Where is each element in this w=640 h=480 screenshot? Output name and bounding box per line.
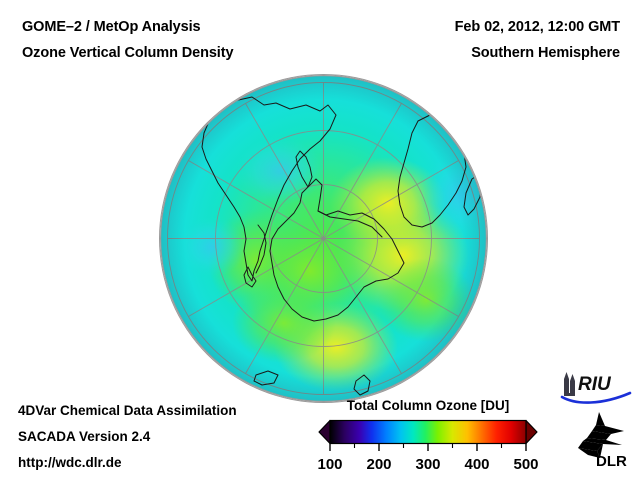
header-timestamp: Feb 02, 2012, 12:00 GMT: [455, 19, 620, 35]
south-pole-marker: [322, 237, 325, 240]
colorbar-under-arrow: [319, 421, 330, 444]
riu-logo-mark: RIU: [558, 370, 634, 406]
colorbar-tick-label: 300: [415, 456, 440, 473]
colorbar-tick-label: 200: [366, 456, 391, 473]
colorbar-title: Total Column Ozone [DU]: [312, 398, 544, 413]
riu-logo: RIU: [558, 370, 634, 406]
ozone-field-plot: [160, 75, 487, 402]
colorbar-tick-label: 400: [464, 456, 489, 473]
riu-tower-icon: [564, 372, 575, 396]
colorbar-tick-label: 500: [513, 456, 538, 473]
footer-version: SACADA Version 2.4: [18, 429, 150, 444]
dlr-logo-mark: DLR: [566, 410, 634, 468]
header-title-secondary: Ozone Vertical Column Density: [22, 45, 233, 61]
dlr-logo: DLR: [566, 410, 634, 468]
riu-logo-text: RIU: [578, 374, 612, 395]
dlr-emblem-icon: [578, 412, 624, 458]
colorbar-over-arrow: [526, 421, 537, 444]
colorbar: Total Column Ozone [DU]: [312, 398, 544, 474]
ozone-map-globe: [160, 75, 487, 402]
footer-method: 4DVar Chemical Data Assimilation: [18, 403, 237, 418]
dlr-logo-text: DLR: [596, 453, 627, 468]
header-title-primary: GOME–2 / MetOp Analysis: [22, 19, 200, 35]
colorbar-ticks: [330, 444, 526, 452]
footer-url[interactable]: http://wdc.dlr.de: [18, 455, 122, 470]
colorbar-tick-labels: 100 200 300 400 500: [317, 456, 538, 473]
header-region: Southern Hemisphere: [471, 45, 620, 61]
colorbar-tick-label: 100: [317, 456, 342, 473]
colorbar-gradient: [330, 421, 526, 444]
coastline-australia: [422, 359, 464, 397]
colorbar-scale: 100 200 300 400 500: [312, 418, 544, 474]
